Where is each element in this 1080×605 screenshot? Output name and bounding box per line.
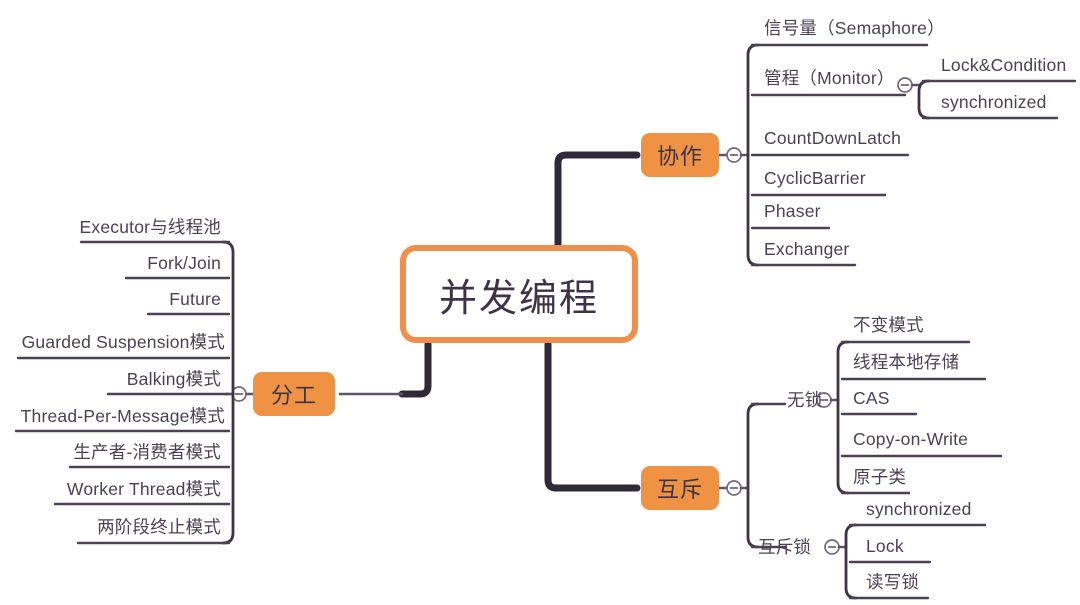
leaf-read-write-lock[interactable]: 读写锁: [866, 574, 919, 592]
leaf-monitor[interactable]: 管程（Monitor）: [764, 70, 895, 88]
leaf-two-phase-termination[interactable]: 两阶段终止模式: [97, 519, 221, 537]
center-node-label: 并发编程: [439, 267, 599, 322]
leaf-lock-and-condition[interactable]: Lock&Condition: [941, 57, 1066, 75]
trunk-center-to-xiezuo: [558, 155, 637, 246]
trunk-center-to-fengong: [402, 344, 428, 394]
leaf-wusuo[interactable]: 无锁: [787, 392, 822, 410]
leaf-thread-local-storage[interactable]: 线程本地存储: [853, 354, 959, 372]
leaf-exchanger[interactable]: Exchanger: [764, 241, 849, 259]
leaf-countdownlatch[interactable]: CountDownLatch: [764, 130, 901, 148]
branch-node-fengong[interactable]: 分工: [253, 372, 335, 416]
spine-monitor: [919, 81, 929, 118]
leaf-semaphore[interactable]: 信号量（Semaphore）: [764, 20, 945, 38]
branch-node-huchi-label: 互斥: [657, 472, 703, 504]
leaf-worker-thread[interactable]: Worker Thread模式: [67, 481, 221, 499]
branch-node-xiezuo[interactable]: 协作: [641, 133, 719, 177]
center-node[interactable]: 并发编程: [400, 245, 638, 343]
leaf-immutable-pattern[interactable]: 不变模式: [853, 317, 924, 335]
leaf-mutex-synchronized[interactable]: synchronized: [866, 501, 972, 519]
leaf-cyclicbarrier[interactable]: CyclicBarrier: [764, 170, 866, 188]
leaf-cas[interactable]: CAS: [853, 390, 890, 408]
leaf-huchisuo[interactable]: 互斥锁: [758, 539, 811, 557]
leaf-producer-consumer[interactable]: 生产者-消费者模式: [73, 444, 221, 462]
leaf-balking[interactable]: Balking模式: [127, 371, 221, 389]
branch-node-huchi[interactable]: 互斥: [641, 466, 719, 510]
mind-map-canvas: 并发编程 协作 互斥 分工 信号量（Semaphore） 管程（Monitor）…: [0, 0, 1080, 605]
leaf-phaser[interactable]: Phaser: [764, 203, 821, 221]
leaf-lock[interactable]: Lock: [866, 538, 904, 556]
branch-node-xiezuo-label: 协作: [657, 139, 703, 171]
leaf-atomic-classes[interactable]: 原子类: [853, 469, 906, 487]
spine-huchi: [748, 404, 758, 547]
leaf-copy-on-write[interactable]: Copy-on-Write: [853, 431, 968, 449]
leaf-thread-per-message[interactable]: Thread-Per-Message模式: [21, 408, 225, 426]
spine-wusuo: [838, 342, 848, 493]
branch-node-fengong-label: 分工: [271, 378, 317, 410]
leaf-monitor-synchronized[interactable]: synchronized: [941, 94, 1047, 112]
leaf-fork-join[interactable]: Fork/Join: [147, 255, 221, 273]
leaf-executor-threadpool[interactable]: Executor与线程池: [80, 219, 221, 237]
leaf-guarded-suspension[interactable]: Guarded Suspension模式: [22, 334, 225, 352]
leaf-future[interactable]: Future: [169, 291, 221, 309]
trunk-center-to-huchi: [548, 344, 637, 488]
